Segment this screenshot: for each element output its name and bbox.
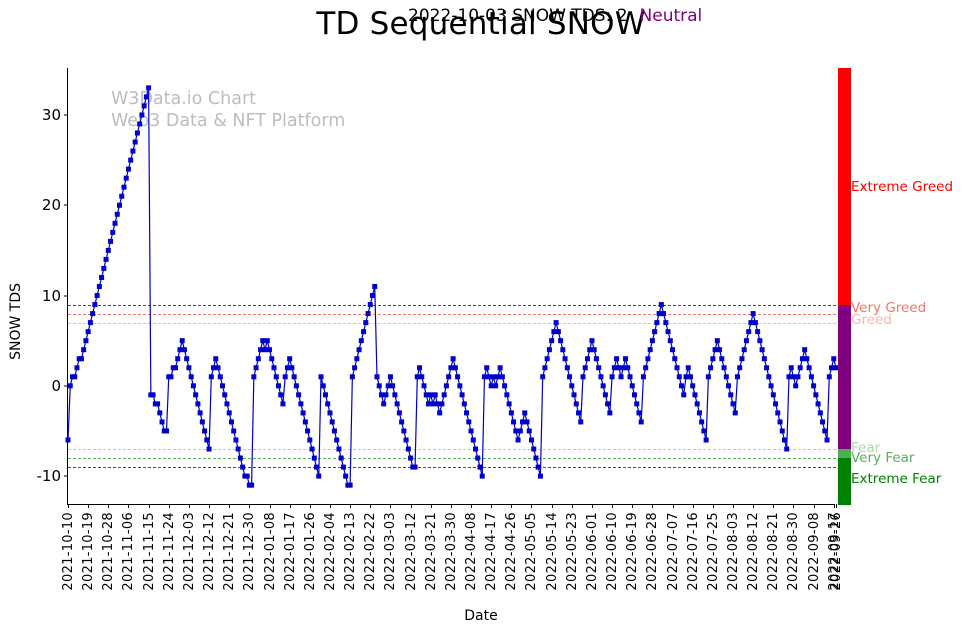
series-marker: [764, 365, 769, 370]
series-marker: [827, 374, 832, 379]
series-marker: [632, 392, 637, 397]
series-marker: [383, 392, 388, 397]
series-marker: [746, 329, 751, 334]
series-marker: [542, 365, 547, 370]
y-tick-label: 20: [42, 196, 61, 214]
series-marker: [511, 419, 516, 424]
series-marker: [350, 374, 355, 379]
series-marker: [433, 392, 438, 397]
series-marker: [780, 428, 785, 433]
series-marker: [144, 94, 149, 99]
x-tick-label: 2022-08-03: [726, 512, 741, 591]
series-marker: [303, 419, 308, 424]
series-marker: [395, 401, 400, 406]
series-marker: [245, 474, 250, 479]
series-marker: [585, 356, 590, 361]
series-marker: [263, 347, 268, 352]
series-marker: [809, 374, 814, 379]
series-marker: [316, 474, 321, 479]
colorbar-segment-extreme-fear: [838, 458, 851, 505]
series-marker: [354, 356, 359, 361]
series-marker: [569, 383, 574, 388]
series-marker: [587, 347, 592, 352]
series-marker: [415, 374, 420, 379]
series-marker: [551, 329, 556, 334]
tds-series: [68, 68, 836, 505]
x-tick-label: 2021-12-12: [202, 512, 217, 591]
series-marker: [442, 392, 447, 397]
series-marker: [437, 410, 442, 415]
series-marker: [283, 374, 288, 379]
series-marker: [822, 428, 827, 433]
x-tick-label: 2022-08-30: [786, 512, 801, 591]
x-tick-label: 2021-11-24: [162, 512, 177, 591]
series-marker: [397, 410, 402, 415]
series-marker: [231, 428, 236, 433]
series-marker: [305, 428, 310, 433]
series-marker: [177, 347, 182, 352]
series-marker: [760, 347, 765, 352]
series-marker: [321, 383, 326, 388]
series-marker: [724, 374, 729, 379]
series-marker: [417, 365, 422, 370]
x-tick-label: 2022-01-17: [283, 512, 298, 591]
annotation-text: 2022-10-03 SNOW TDS: 2: [408, 6, 628, 26]
series-marker: [800, 356, 805, 361]
series-marker: [155, 401, 160, 406]
x-tick-label: 2022-06-01: [585, 512, 600, 591]
series-marker: [731, 401, 736, 406]
series-marker: [672, 356, 677, 361]
series-marker: [681, 392, 686, 397]
series-marker: [90, 311, 95, 316]
series-marker: [816, 401, 821, 406]
series-marker: [339, 456, 344, 461]
chart-root: TD Sequential SNOW 2022-10-03 SNOW TDS: …: [0, 0, 962, 633]
series-marker: [616, 365, 621, 370]
series-marker: [807, 365, 812, 370]
series-marker: [79, 356, 84, 361]
series-marker: [578, 419, 583, 424]
series-marker: [628, 374, 633, 379]
colorbar-label: Extreme Greed: [851, 179, 953, 195]
series-marker: [811, 383, 816, 388]
series-marker: [722, 365, 727, 370]
series-marker: [254, 365, 259, 370]
series-marker: [104, 257, 109, 262]
series-marker: [495, 374, 500, 379]
series-marker: [68, 383, 73, 388]
x-tick-label: 2021-12-21: [222, 512, 237, 591]
series-marker: [748, 320, 753, 325]
annotation-readout: 2022-10-03 SNOW TDS: 2Neutral: [408, 6, 702, 26]
colorbar-segment-extreme-greed: [838, 68, 851, 305]
series-marker: [200, 419, 205, 424]
series-marker: [160, 419, 165, 424]
series-marker: [374, 374, 379, 379]
series-marker: [276, 383, 281, 388]
series-marker: [715, 338, 720, 343]
series-marker: [211, 365, 216, 370]
series-marker: [735, 374, 740, 379]
series-marker: [596, 365, 601, 370]
series-marker: [753, 320, 758, 325]
series-marker: [701, 428, 706, 433]
series-marker: [771, 392, 776, 397]
series-marker: [491, 374, 496, 379]
series-marker: [453, 365, 458, 370]
series-marker: [699, 419, 704, 424]
series-marker: [621, 365, 626, 370]
series-marker: [475, 456, 480, 461]
series-marker: [388, 374, 393, 379]
series-marker: [813, 392, 818, 397]
x-tick-label: 2022-09-26: [829, 512, 844, 591]
series-marker: [529, 437, 534, 442]
series-marker: [204, 437, 209, 442]
x-tick-label: 2021-10-19: [81, 512, 96, 591]
series-marker: [428, 392, 433, 397]
colorbar-segment-very-fear: [838, 449, 851, 458]
series-marker: [370, 293, 375, 298]
series-marker: [191, 383, 196, 388]
x-tick-label: 2021-10-10: [61, 512, 76, 591]
series-marker: [251, 374, 256, 379]
series-marker: [426, 401, 431, 406]
x-tick-label: 2022-05-05: [524, 512, 539, 591]
series-marker: [713, 347, 718, 352]
series-marker: [634, 401, 639, 406]
series-marker: [509, 410, 514, 415]
series-marker: [121, 185, 126, 190]
series-marker: [422, 383, 427, 388]
series-marker: [690, 383, 695, 388]
series-marker: [751, 311, 756, 316]
series-marker: [639, 419, 644, 424]
series-marker: [175, 356, 180, 361]
x-tick-label: 2022-05-14: [545, 512, 560, 591]
series-marker: [482, 374, 487, 379]
series-marker: [392, 392, 397, 397]
series-marker: [726, 383, 731, 388]
x-tick-label: 2021-11-06: [121, 512, 136, 591]
series-marker: [439, 401, 444, 406]
series-marker: [471, 437, 476, 442]
series-marker: [115, 212, 120, 217]
series-marker: [368, 302, 373, 307]
series-marker: [795, 374, 800, 379]
series-marker: [820, 419, 825, 424]
x-tick-label: 2022-01-26: [303, 512, 318, 591]
series-marker: [363, 320, 368, 325]
series-marker: [256, 356, 261, 361]
series-marker: [213, 356, 218, 361]
series-marker: [113, 221, 118, 226]
series-marker: [430, 401, 435, 406]
series-marker: [186, 365, 191, 370]
series-marker: [341, 465, 346, 470]
series-marker: [502, 383, 507, 388]
series-marker: [513, 428, 518, 433]
series-marker: [739, 356, 744, 361]
series-marker: [641, 374, 646, 379]
series-marker: [435, 401, 440, 406]
series-marker: [504, 392, 509, 397]
series-marker: [379, 392, 384, 397]
series-marker: [659, 302, 664, 307]
y-tick-label: 0: [51, 377, 61, 395]
x-tick-label: 2022-02-04: [323, 512, 338, 591]
series-marker: [670, 347, 675, 352]
series-marker: [180, 338, 185, 343]
series-marker: [710, 356, 715, 361]
series-marker: [558, 338, 563, 343]
series-marker: [220, 383, 225, 388]
x-tick-label: 2022-04-17: [484, 512, 499, 591]
series-marker: [601, 383, 606, 388]
series-marker: [366, 311, 371, 316]
series-marker: [782, 437, 787, 442]
series-marker: [386, 383, 391, 388]
x-tick-label: 2021-11-15: [142, 512, 157, 591]
series-marker: [630, 383, 635, 388]
x-tick-label: 2022-03-30: [444, 512, 459, 591]
series-marker: [469, 428, 474, 433]
x-tick-label: 2022-02-13: [343, 512, 358, 591]
series-marker: [545, 356, 550, 361]
series-marker: [737, 365, 742, 370]
series-marker: [464, 410, 469, 415]
series-marker: [605, 401, 610, 406]
series-marker: [775, 410, 780, 415]
series-marker: [719, 356, 724, 361]
series-marker: [83, 338, 88, 343]
series-marker: [413, 465, 418, 470]
series-marker: [661, 311, 666, 316]
series-marker: [209, 374, 214, 379]
x-axis-label: Date: [0, 608, 962, 624]
series-marker: [804, 356, 809, 361]
series-marker: [128, 158, 133, 163]
series-marker: [216, 365, 221, 370]
series-marker: [151, 392, 156, 397]
series-marker: [451, 356, 456, 361]
x-tick-label: 2021-10-28: [101, 512, 116, 591]
series-marker: [348, 483, 353, 488]
series-marker: [525, 419, 530, 424]
series-marker: [332, 428, 337, 433]
series-marker: [448, 365, 453, 370]
series-marker: [486, 374, 491, 379]
series-marker: [592, 347, 597, 352]
series-marker: [663, 320, 668, 325]
series-marker: [786, 374, 791, 379]
series-marker: [567, 374, 572, 379]
series-marker: [327, 410, 332, 415]
series-marker: [518, 428, 523, 433]
series-marker: [298, 401, 303, 406]
y-axis-label: SNOW TDS: [8, 283, 24, 360]
series-marker: [323, 392, 328, 397]
series-marker: [549, 338, 554, 343]
series-marker: [683, 374, 688, 379]
series-marker: [74, 365, 79, 370]
series-marker: [769, 383, 774, 388]
series-marker: [516, 437, 521, 442]
series-marker: [377, 383, 382, 388]
colorbar-label: Extreme Fear: [851, 471, 941, 487]
series-marker: [623, 356, 628, 361]
colorbar-segment-neutral: [838, 305, 851, 449]
series-marker: [229, 419, 234, 424]
series-marker: [536, 465, 541, 470]
series-marker: [547, 347, 552, 352]
series-marker: [106, 248, 111, 253]
series-marker: [668, 338, 673, 343]
series-marker: [287, 356, 292, 361]
series-marker: [457, 383, 462, 388]
series-marker: [139, 112, 144, 117]
x-tick-label: 2022-03-03: [383, 512, 398, 591]
series-marker: [265, 338, 270, 343]
series-marker: [314, 465, 319, 470]
series-marker: [675, 365, 680, 370]
series-marker: [652, 329, 657, 334]
series-marker: [258, 347, 263, 352]
series-marker: [189, 374, 194, 379]
series-marker: [802, 347, 807, 352]
series-marker: [560, 347, 565, 352]
series-marker: [697, 410, 702, 415]
series-marker: [717, 347, 722, 352]
y-tick-label: -10: [37, 467, 62, 485]
series-marker: [784, 447, 789, 452]
x-tick-label: 2022-04-08: [464, 512, 479, 591]
series-marker: [157, 410, 162, 415]
series-marker: [444, 383, 449, 388]
series-marker: [357, 347, 362, 352]
series-marker: [236, 447, 241, 452]
series-marker: [404, 437, 409, 442]
x-tick-label: 2022-07-16: [686, 512, 701, 591]
series-marker: [88, 320, 93, 325]
series-marker: [343, 474, 348, 479]
series-marker: [520, 419, 525, 424]
series-marker: [81, 347, 86, 352]
series-marker: [455, 374, 460, 379]
series-marker: [477, 465, 482, 470]
x-tick-label: 2022-03-12: [404, 512, 419, 591]
series-marker: [184, 356, 189, 361]
series-marker: [72, 374, 77, 379]
series-marker: [274, 374, 279, 379]
series-marker: [271, 365, 276, 370]
series-marker: [688, 374, 693, 379]
series-marker: [825, 437, 830, 442]
series-marker: [636, 410, 641, 415]
series-marker: [489, 383, 494, 388]
series-marker: [182, 347, 187, 352]
series-marker: [198, 410, 203, 415]
series-marker: [607, 410, 612, 415]
series-marker: [583, 365, 588, 370]
series-marker: [280, 401, 285, 406]
series-marker: [507, 401, 512, 406]
series-marker: [798, 365, 803, 370]
series-marker: [791, 374, 796, 379]
sentiment-colorbar: [838, 68, 851, 505]
series-marker: [778, 419, 783, 424]
series-marker: [406, 447, 411, 452]
series-marker: [292, 374, 297, 379]
series-marker: [301, 410, 306, 415]
series-marker: [563, 356, 568, 361]
series-marker: [224, 401, 229, 406]
series-marker: [666, 329, 671, 334]
series-marker: [336, 447, 341, 452]
colorbar-label: Greed: [851, 312, 892, 328]
series-marker: [296, 392, 301, 397]
series-marker: [614, 356, 619, 361]
series-marker: [408, 456, 413, 461]
series-marker: [789, 365, 794, 370]
series-marker: [498, 365, 503, 370]
series-marker: [533, 456, 538, 461]
series-marker: [610, 374, 615, 379]
x-tick-label: 2022-02-22: [363, 512, 378, 591]
x-tick-label: 2022-04-26: [504, 512, 519, 591]
series-marker: [92, 302, 97, 307]
series-marker: [695, 401, 700, 406]
y-tick-label: 30: [42, 106, 61, 124]
series-marker: [744, 338, 749, 343]
series-marker: [466, 419, 471, 424]
series-marker: [766, 374, 771, 379]
series-marker: [686, 365, 691, 370]
series-marker: [285, 365, 290, 370]
series-marker: [619, 374, 624, 379]
x-tick-label: 2022-09-08: [807, 512, 822, 591]
series-marker: [319, 374, 324, 379]
series-marker: [381, 401, 386, 406]
series-marker: [202, 428, 207, 433]
series-marker: [565, 365, 570, 370]
x-tick-mark: [836, 504, 837, 508]
series-marker: [643, 365, 648, 370]
x-tick-label: 2022-05-23: [565, 512, 580, 591]
series-marker: [133, 140, 138, 145]
series-marker: [124, 176, 129, 181]
series-marker: [207, 447, 212, 452]
series-marker: [818, 410, 823, 415]
series-marker: [267, 347, 272, 352]
series-marker: [531, 447, 536, 452]
series-marker: [527, 428, 532, 433]
x-tick-label: 2022-08-21: [766, 512, 781, 591]
series-marker: [625, 365, 630, 370]
series-marker: [399, 419, 404, 424]
x-tick-label: 2022-07-07: [666, 512, 681, 591]
series-marker: [325, 401, 330, 406]
series-marker: [424, 392, 429, 397]
x-tick-label: 2022-08-12: [746, 512, 761, 591]
series-marker: [500, 374, 505, 379]
series-marker: [401, 428, 406, 433]
series-marker: [117, 203, 122, 208]
series-marker: [269, 356, 274, 361]
series-marker: [829, 365, 834, 370]
x-tick-label: 2022-06-19: [625, 512, 640, 591]
